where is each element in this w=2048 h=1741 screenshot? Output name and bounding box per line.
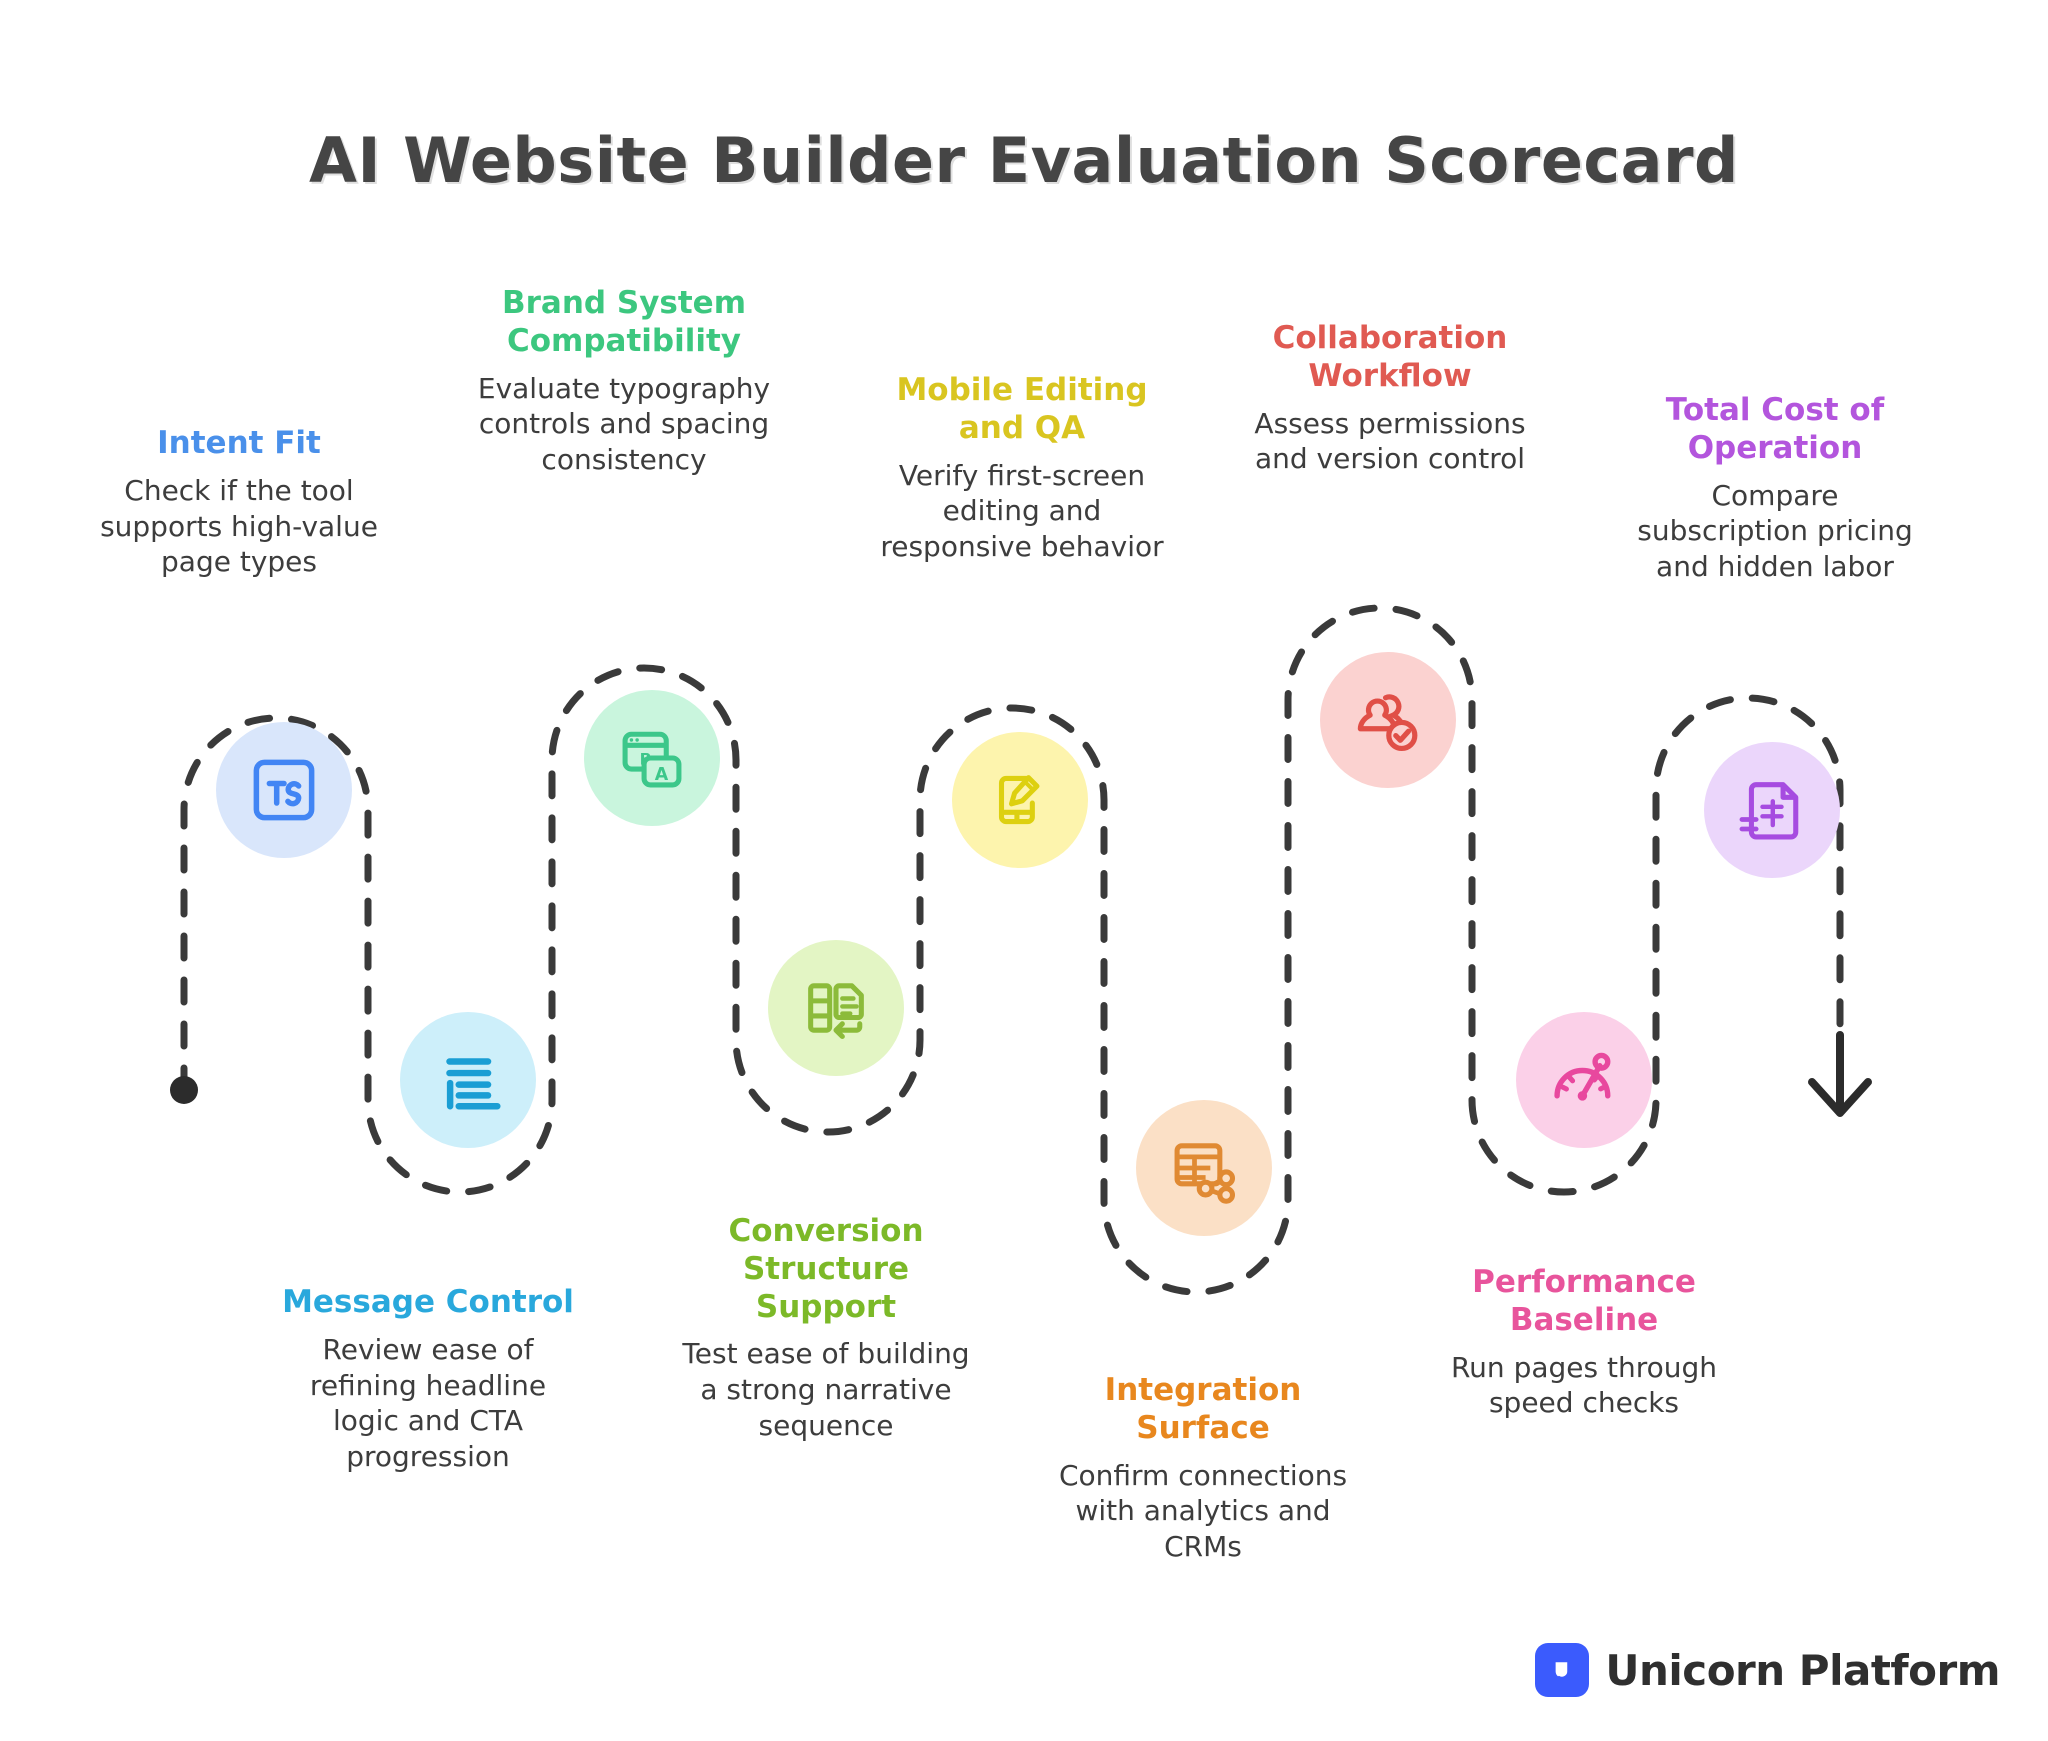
- step-heading: Mobile Editing and QA: [872, 372, 1172, 448]
- layout-sequence-icon: [798, 970, 874, 1046]
- step-description: Check if the tool supports high-value pa…: [89, 473, 389, 580]
- step-icon-bubble-total-cost-of-operation[interactable]: [1704, 742, 1840, 878]
- step-heading: Total Cost of Operation: [1625, 392, 1925, 468]
- brand-footer: Unicorn Platform: [1535, 1643, 2000, 1697]
- step-heading: Conversion Structure Support: [676, 1213, 976, 1326]
- data-share-icon: [1166, 1130, 1242, 1206]
- step-description: Verify first-screen editing and responsi…: [872, 458, 1172, 565]
- step-heading: Brand System Compatibility: [474, 285, 774, 361]
- step-description: Review ease of refining headline logic a…: [278, 1332, 578, 1475]
- step-icon-bubble-intent-fit[interactable]: [216, 722, 352, 858]
- users-check-icon: [1349, 681, 1427, 759]
- step-heading: Collaboration Workflow: [1240, 320, 1540, 396]
- step-icon-bubble-mobile-editing-and-qa[interactable]: [952, 732, 1088, 868]
- step-icon-bubble-performance-baseline[interactable]: [1516, 1012, 1652, 1148]
- unicorn-logo-icon: [1535, 1643, 1589, 1697]
- step-icon-bubble-brand-system-compatibility[interactable]: B A: [584, 690, 720, 826]
- step-description: Test ease of building a strong narrative…: [676, 1336, 976, 1443]
- step-heading: Performance Baseline: [1434, 1264, 1734, 1340]
- step-label-intent-fit: Intent Fit Check if the tool supports hi…: [89, 425, 389, 580]
- invoice-icon: [1734, 772, 1810, 848]
- step-label-performance-baseline: Performance Baseline Run pages through s…: [1434, 1264, 1734, 1421]
- brand-typography-icon: B A: [614, 720, 690, 796]
- step-description: Compare subscription pricing and hidden …: [1625, 478, 1925, 585]
- mobile-edit-icon: [983, 763, 1057, 837]
- step-description: Run pages through speed checks: [1434, 1350, 1734, 1422]
- page-title: AI Website Builder Evaluation Scorecard: [0, 124, 2048, 197]
- start-dot: [170, 1076, 198, 1104]
- step-description: Evaluate typography controls and spacing…: [474, 371, 774, 478]
- step-heading: Intent Fit: [89, 425, 389, 463]
- svg-text:A: A: [655, 765, 669, 785]
- step-heading: Message Control: [278, 1284, 578, 1322]
- step-icon-bubble-message-control[interactable]: [400, 1012, 536, 1148]
- end-arrow: [1812, 1035, 1868, 1113]
- step-label-total-cost-of-operation: Total Cost of Operation Compare subscrip…: [1625, 392, 1925, 585]
- step-label-message-control: Message Control Review ease of refining …: [278, 1284, 578, 1475]
- step-heading: Integration Surface: [1053, 1372, 1353, 1448]
- step-description: Assess permissions and version control: [1240, 406, 1540, 478]
- step-label-conversion-structure-support: Conversion Structure Support Test ease o…: [676, 1213, 976, 1444]
- speed-gauge-icon: [1546, 1042, 1622, 1118]
- step-label-mobile-editing-and-qa: Mobile Editing and QA Verify first-scree…: [872, 372, 1172, 565]
- step-icon-bubble-integration-surface[interactable]: [1136, 1100, 1272, 1236]
- unicorn-glyph-icon: [1545, 1653, 1579, 1687]
- step-icon-bubble-collaboration-workflow[interactable]: [1320, 652, 1456, 788]
- step-icon-bubble-conversion-structure-support[interactable]: [768, 940, 904, 1076]
- step-label-collaboration-workflow: Collaboration Workflow Assess permission…: [1240, 320, 1540, 477]
- step-label-brand-system-compatibility: Brand System Compatibility Evaluate typo…: [474, 285, 774, 478]
- text-lines-icon: [431, 1043, 505, 1117]
- brand-name: Unicorn Platform: [1605, 1646, 2000, 1695]
- step-label-integration-surface: Integration Surface Confirm connections …: [1053, 1372, 1353, 1565]
- step-description: Confirm connections with analytics and C…: [1053, 1458, 1353, 1565]
- ts-badge-icon: [245, 751, 323, 829]
